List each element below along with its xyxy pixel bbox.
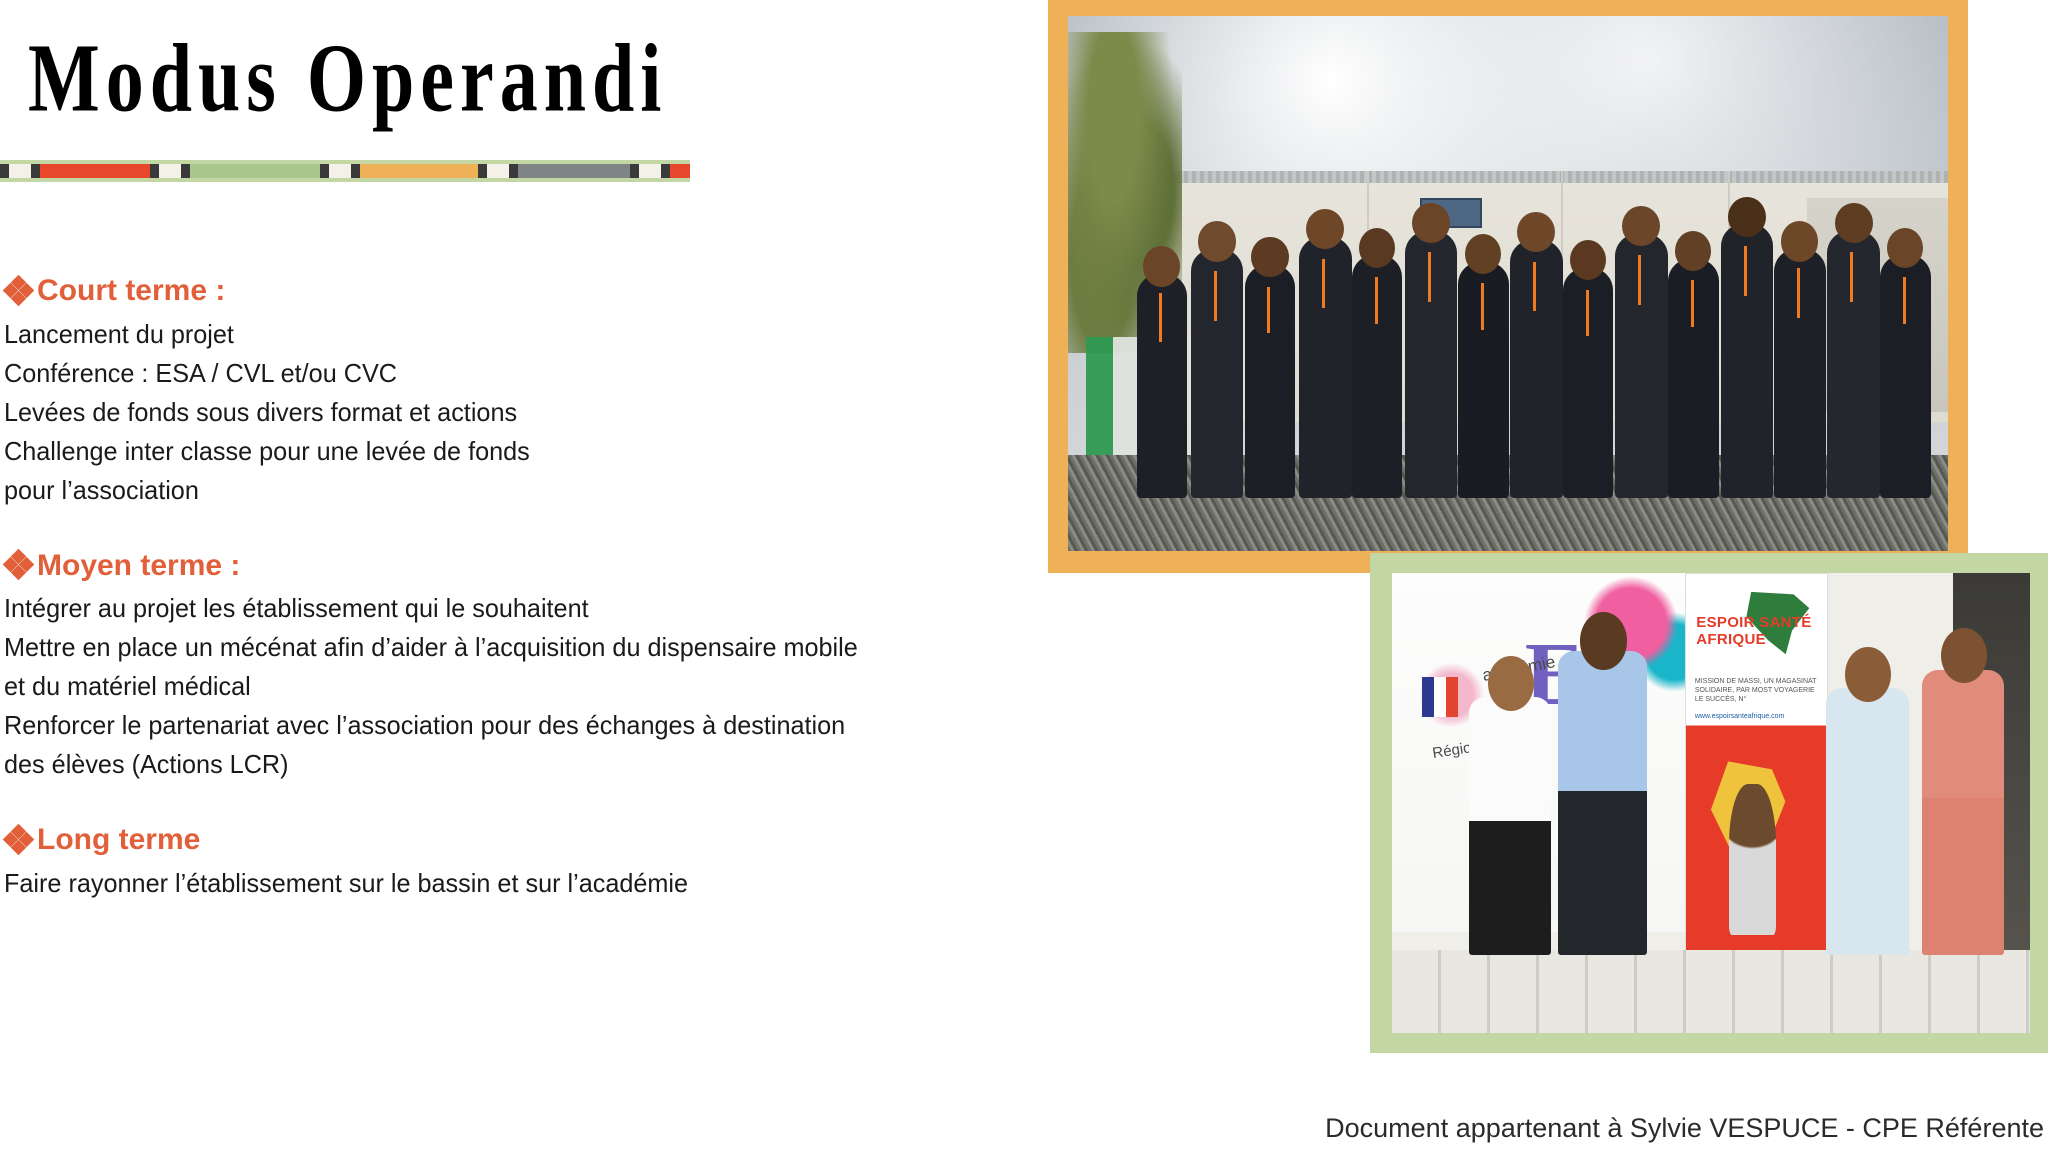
students-group [1121,187,1948,497]
divider-segment [360,164,478,178]
diamond-cluster-icon [4,276,34,306]
section-heading-label: Court terme : [37,275,225,307]
banner-contact-site: www.espoirsanteafrique.com [1695,712,1819,722]
diamond-cluster-icon [4,825,34,855]
french-flag-icon [1422,677,1458,716]
section-line: et du matériel médical [4,673,970,699]
divider-segment [320,164,329,178]
striped-divider-bar [0,160,690,182]
divider-segment [639,164,661,178]
tiled-floor [1392,950,2030,1033]
diamond-cluster-icon [4,550,34,580]
divider-segment [190,164,320,178]
person-woman-white-tee [1469,697,1552,955]
person-man-blue-shirt [1558,651,1647,955]
divider-segment [31,164,40,178]
section-line: Mettre en place un mécénat afin d’aider … [4,634,970,660]
section-moyen-terme: Moyen terme : Intégrer au projet les éta… [0,550,1000,778]
section-heading-long-terme: Long terme [4,824,1000,856]
divider-segment [487,164,509,178]
footer-credit: Document appartenant à Sylvie VESPUCE - … [1325,1113,2044,1144]
divider-segment [9,164,31,178]
divider-segment [351,164,360,178]
stand-photo-espoir-sante-afrique: E académie Région acadé ESPOIR SANTÉ AFR… [1392,573,2030,1033]
group-photo-students [1068,16,1948,551]
content-column: Court terme : Lancement du projet Confér… [0,275,1000,909]
stand-photo-frame: E académie Région acadé ESPOIR SANTÉ AFR… [1370,553,2048,1053]
divider-segment [150,164,159,178]
divider-segment [478,164,487,178]
section-line: Faire rayonner l’établissement sur le ba… [4,870,970,896]
section-line: Lancement du projet [4,321,970,347]
group-photo-frame [1048,0,1968,573]
section-heading-court-terme: Court terme : [4,275,1000,307]
divider-segment [630,164,639,178]
divider-segment [159,164,181,178]
divider-segment [670,164,690,178]
divider-segment [40,164,150,178]
page-title: Modus Operandi [28,30,667,127]
divider-segment [661,164,670,178]
section-line: Intégrer au projet les établissement qui… [4,595,970,621]
section-heading-moyen-terme: Moyen terme : [4,550,1000,582]
person-head [1488,656,1534,711]
section-spacer [0,790,1000,824]
section-line: pour l’association [4,477,970,503]
person-woman-salmon-outfit [1922,670,2005,955]
banner-subtitle: MISSION DE MASSI, UN MAGASINAT SOLIDAIRE… [1695,677,1819,704]
section-line: Challenge inter classe pour une levée de… [4,438,970,464]
child-photo [1729,784,1777,936]
banner-title: ESPOIR SANTÉ AFRIQUE [1696,614,1818,649]
person-head [1845,647,1891,702]
section-court-terme: Court terme : Lancement du projet Confér… [0,275,1000,503]
section-heading-label: Long terme [37,824,200,856]
person-woman-floral-dress [1826,688,1909,955]
divider-segment [181,164,190,178]
section-line: Conférence : ESA / CVL et/ou CVC [4,360,970,386]
section-line: Renforcer le partenariat avec l’associat… [4,712,970,738]
section-line: des élèves (Actions LCR) [4,751,970,777]
divider-segment [329,164,351,178]
section-heading-label: Moyen terme : [37,550,240,582]
divider-segment [518,164,630,178]
section-line: Levées de fonds sous divers format et ac… [4,399,970,425]
divider-segment [509,164,518,178]
section-spacer [0,516,1000,550]
section-long-terme: Long terme Faire rayonner l’établissemen… [0,824,1000,896]
divider-segment [0,164,9,178]
person-head [1580,612,1627,670]
person-head [1941,628,1987,683]
